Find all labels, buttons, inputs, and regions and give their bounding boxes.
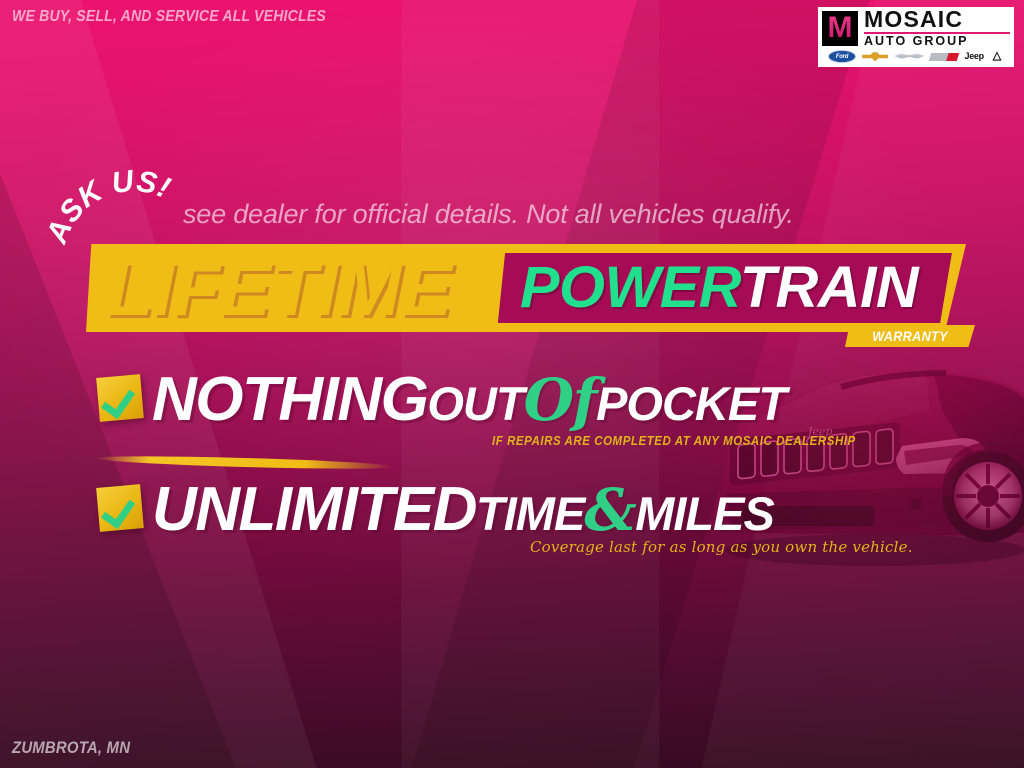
benefit-2-headline: UNLIMITEDTIME&MILES	[152, 478, 774, 546]
benefit-row-nothing-out-of-pocket: NOTHINGOUTOfPOCKET IF REPAIRS ARE COMPLE…	[98, 368, 786, 436]
logo-subname: AUTO GROUP	[864, 35, 1010, 48]
vehicle-image-jeep-compass: Jeep	[690, 318, 1024, 608]
benefit-2-end: MILES	[635, 487, 774, 540]
ford-logo-icon: Ford	[828, 50, 856, 63]
benefit-2-mid: TIME	[476, 487, 584, 540]
dealer-logo[interactable]: M MOSAIC AUTO GROUP Ford Jeep △	[818, 7, 1014, 67]
checkbox-checked-icon	[96, 484, 144, 532]
brand-badge-row: Ford Jeep △	[822, 48, 1010, 65]
header-tagline: WE BUY, SELL, AND SERVICE ALL VEHICLES	[12, 8, 326, 26]
logo-mark-letter: M	[822, 11, 858, 46]
benefit-row-unlimited-time-and-miles: UNLIMITEDTIME&MILES Coverage last for as…	[98, 478, 774, 546]
warranty-label: WARRANTY	[872, 328, 948, 344]
benefit-2-script: &	[584, 476, 635, 544]
chevrolet-logo-icon	[862, 52, 888, 62]
powertrain-headline: POWERTRAIN	[520, 256, 918, 320]
benefit-1-note: IF REPAIRS ARE COMPLETED AT ANY MOSAIC D…	[492, 434, 856, 448]
train-word: TRAIN	[740, 255, 918, 320]
logo-wordmark: MOSAIC AUTO GROUP	[864, 9, 1010, 47]
benefit-1-text: NOTHINGOUTOfPOCKET IF REPAIRS ARE COMPLE…	[152, 368, 786, 436]
lifetime-powertrain-band: LIFETIME POWERTRAIN	[86, 244, 966, 332]
warranty-tab: WARRANTY	[845, 325, 975, 347]
disclaimer-text: see dealer for official details. Not all…	[183, 199, 794, 230]
logo-primary-row: M MOSAIC AUTO GROUP	[822, 10, 1010, 46]
benefit-1-mid: OUT	[427, 377, 523, 430]
dodge-logo-icon	[929, 53, 960, 61]
benefit-1-strong: NOTHING	[152, 365, 427, 434]
logo-name: MOSAIC	[864, 9, 1010, 31]
jeep-logo-icon: Jeep	[965, 52, 984, 61]
footer-location: ZUMBROTA, MN	[12, 738, 130, 758]
benefit-2-note: Coverage last for as long as you own the…	[530, 538, 913, 556]
lifetime-headline: LIFETIME	[106, 246, 451, 334]
chrysler-logo-icon	[894, 52, 924, 61]
benefit-2-text: UNLIMITEDTIME&MILES Coverage last for as…	[152, 478, 774, 546]
benefit-1-script: Of	[524, 366, 596, 434]
ask-us-arch-text: ASK US!	[56, 176, 196, 254]
benefit-2-strong: UNLIMITED	[152, 475, 476, 544]
mosaic-m-icon: M	[822, 11, 858, 46]
checkbox-checked-icon	[96, 374, 144, 422]
power-word: POWER	[520, 255, 740, 320]
ask-us-label: ASK US!	[40, 164, 175, 248]
ram-logo-icon: △	[990, 51, 1004, 63]
ad-banner: Jeep	[0, 0, 1024, 768]
benefit-1-end: POCKET	[596, 377, 786, 430]
benefit-1-headline: NOTHINGOUTOfPOCKET	[152, 368, 786, 436]
